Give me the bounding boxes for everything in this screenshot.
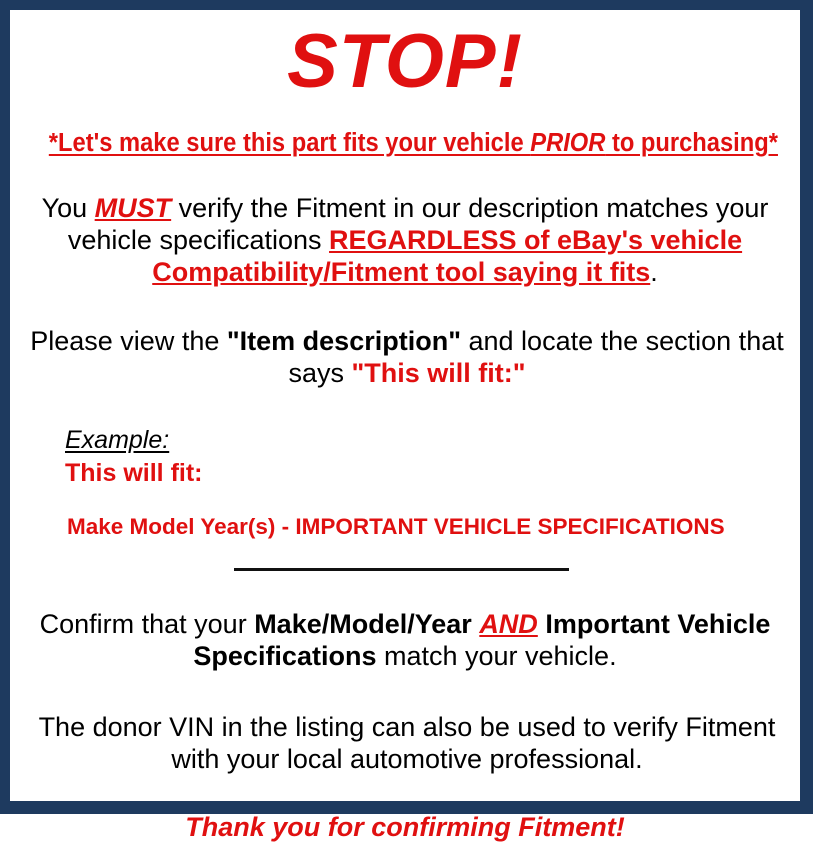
tagline-prefix: *Let's make sure this part fits your veh… xyxy=(49,129,530,157)
fitment-notice-card: STOP! *Let's make sure this part fits yo… xyxy=(0,0,813,814)
must-part-3: . xyxy=(650,257,658,287)
example-block: Example: This will fit: Make Model Year(… xyxy=(22,389,788,541)
must-verify-paragraph: You MUST verify the Fitment in our descr… xyxy=(25,158,785,288)
confirm-part-1: Confirm that your xyxy=(40,609,255,639)
tagline-suffix: to purchasing* xyxy=(605,129,778,157)
tagline: *Let's make sure this part fits your veh… xyxy=(49,105,761,158)
tagline-emphasis-prior: PRIOR xyxy=(530,129,605,157)
example-label-row: Example: xyxy=(65,425,788,455)
closing-thank-you: Thank you for confirming Fitment! xyxy=(22,775,788,843)
example-label: Example: xyxy=(65,425,169,455)
item-description-quote: "Item description" xyxy=(227,326,461,356)
item-description-paragraph: Please view the "Item description" and l… xyxy=(22,288,792,389)
make-model-year-emphasis: Make/Model/Year xyxy=(254,609,472,639)
example-this-will-fit: This will fit: xyxy=(65,455,788,488)
confirm-paragraph: Confirm that your Make/Model/Year AND Im… xyxy=(25,571,785,672)
divider-wrap xyxy=(22,541,788,571)
must-part-1: You xyxy=(42,193,95,223)
example-spec-line: Make Model Year(s) - IMPORTANT VEHICLE S… xyxy=(65,488,788,541)
must-emphasis: MUST xyxy=(95,193,172,223)
confirm-part-2: match your vehicle. xyxy=(376,641,616,671)
notice-content: STOP! *Let's make sure this part fits yo… xyxy=(10,10,800,801)
donor-vin-paragraph: The donor VIN in the listing can also be… xyxy=(22,672,792,775)
and-emphasis: AND xyxy=(479,609,538,639)
page-title: STOP! xyxy=(22,10,788,105)
item-desc-part-1: Please view the xyxy=(30,326,227,356)
this-will-fit-quote: "This will fit:" xyxy=(351,358,525,388)
